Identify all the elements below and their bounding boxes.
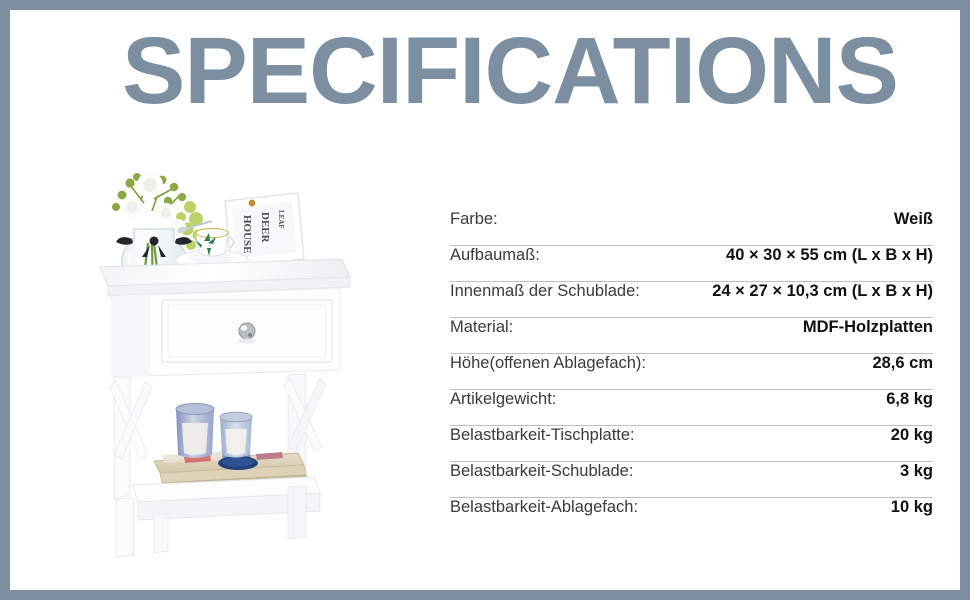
spec-label: Material: [450, 318, 513, 337]
svg-text:DEER: DEER [259, 212, 271, 244]
svg-text:LEAF: LEAF [277, 210, 285, 229]
spec-value: 40 × 30 × 55 cm (L x B x H) [726, 246, 933, 265]
spec-value: 6,8 kg [886, 390, 933, 409]
spec-label: Belastbarkeit-Tischplatte: [450, 426, 635, 445]
spec-label: Farbe: [450, 210, 498, 229]
spec-label: Artikelgewicht: [450, 390, 556, 409]
product-photo: HOUSE DEER LEAF [92, 155, 362, 570]
spec-value: MDF-Holzplatten [803, 318, 933, 337]
spec-label: Belastbarkeit-Ablagefach: [450, 498, 638, 517]
specifications-page: SPECIFICATIONS [0, 0, 970, 600]
page-title: SPECIFICATIONS [122, 22, 898, 122]
table-row: Aufbaumaß: 40 × 30 × 55 cm (L x B x H) [450, 246, 933, 282]
spec-label: Aufbaumaß: [450, 246, 540, 265]
spec-label: Innenmaß der Schublade: [450, 282, 640, 301]
spec-value: Weiß [894, 210, 933, 229]
candle-glasses-decor [176, 404, 252, 459]
table-row: Belastbarkeit-Schublade: 3 kg [450, 462, 933, 498]
spec-value: 20 kg [891, 426, 933, 445]
spec-label: Belastbarkeit-Schublade: [450, 462, 633, 481]
spec-label: Höhe(offenen Ablagefach): [450, 354, 646, 373]
table-row: Farbe: Weiß [450, 210, 933, 246]
specifications-table: Farbe: Weiß Aufbaumaß: 40 × 30 × 55 cm (… [450, 210, 933, 534]
table-row: Artikelgewicht: 6,8 kg [450, 390, 933, 426]
spec-value: 10 kg [891, 498, 933, 517]
svg-text:HOUSE: HOUSE [241, 215, 253, 254]
spec-value: 28,6 cm [872, 354, 933, 373]
x-brace-left [110, 377, 152, 499]
spec-value: 24 × 27 × 10,3 cm (L x B x H) [712, 282, 933, 301]
table-row: Innenmaß der Schublade: 24 × 27 × 10,3 c… [450, 282, 933, 318]
nightstand-furniture [100, 259, 350, 557]
table-row: Belastbarkeit-Ablagefach: 10 kg [450, 498, 933, 534]
table-row: Belastbarkeit-Tischplatte: 20 kg [450, 426, 933, 462]
table-row: Material: MDF-Holzplatten [450, 318, 933, 354]
table-row: Höhe(offenen Ablagefach): 28,6 cm [450, 354, 933, 390]
spec-value: 3 kg [900, 462, 933, 481]
